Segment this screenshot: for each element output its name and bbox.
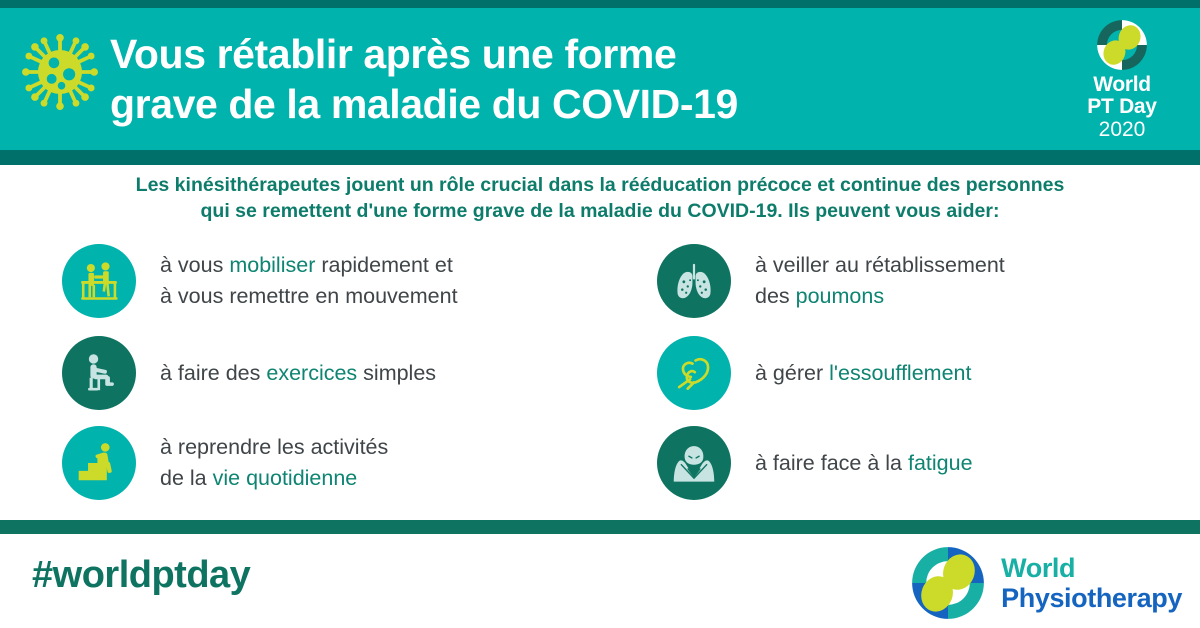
infographic-poster: Vous rétablir après une forme grave de l… [0, 0, 1200, 628]
highlight-segment: exercices [266, 361, 357, 385]
text-segment: rapidement et [315, 253, 452, 277]
page-title-line-1: Vous rétablir après une forme [110, 31, 676, 77]
seated-exercise-icon [62, 336, 136, 410]
text-segment: à vous remettre en mouvement [160, 284, 458, 308]
wordmark-line-2: Physiotherapy [1001, 585, 1182, 612]
parallel-bars-walking-icon [62, 244, 136, 318]
text-segment: à faire des [160, 361, 266, 385]
stairs-climbing-icon [62, 426, 136, 500]
world-pt-day-emblem-icon [1095, 18, 1149, 72]
benefits-list: à vous mobiliser rapidement et à vous re… [0, 240, 1200, 512]
text-segment: à gérer [755, 361, 829, 385]
breathlessness-icon [657, 336, 731, 410]
world-physiotherapy-wordmark: World Physiotherapy [1001, 555, 1182, 612]
page-title-line-2: grave de la maladie du COVID-19 [110, 79, 1000, 129]
page-title: Vous rétablir après une forme grave de l… [110, 29, 1000, 129]
highlight-segment: mobiliser [229, 253, 315, 277]
world-pt-day-logo: World PT Day 2020 [1062, 16, 1182, 148]
footer-divider-band [0, 520, 1200, 534]
text-segment: de la [160, 466, 213, 490]
world-pt-day-year: 2020 [1099, 118, 1146, 141]
world-physiotherapy-logo: World Physiotherapy [909, 544, 1182, 622]
highlight-segment: l'essoufflement [829, 361, 971, 385]
list-item: à vous mobiliser rapidement et à vous re… [62, 244, 458, 318]
world-pt-day-line-1: World [1093, 73, 1151, 96]
wordmark-line-1: World [1001, 555, 1182, 582]
top-accent-strip [0, 0, 1200, 8]
text-segment: simples [357, 361, 436, 385]
list-item-line-1: à reprendre les activités [160, 432, 388, 463]
highlight-segment: vie quotidienne [213, 466, 358, 490]
lungs-icon [657, 244, 731, 318]
text-segment: des [755, 284, 796, 308]
highlight-segment: fatigue [908, 451, 973, 475]
list-item-line-1: à faire face à la fatigue [755, 448, 973, 479]
highlight-segment: poumons [796, 284, 884, 308]
list-item-text: à faire face à la fatigue [755, 448, 973, 479]
coronavirus-icon [22, 34, 98, 110]
list-item-line-2: des poumons [755, 281, 1005, 312]
list-item-text: à reprendre les activités de la vie quot… [160, 432, 388, 494]
fatigue-person-icon [657, 426, 731, 500]
list-item: à reprendre les activités de la vie quot… [62, 426, 388, 500]
hashtag: #worldptday [32, 554, 250, 597]
list-item: à faire des exercices simples [62, 336, 436, 410]
header-banner: Vous rétablir après une forme grave de l… [0, 8, 1200, 150]
list-item-text: à faire des exercices simples [160, 358, 436, 389]
header-bottom-band [0, 150, 1200, 165]
footer: #worldptday World Physiotherapy [0, 534, 1200, 628]
world-pt-day-logo-text: World PT Day [1087, 74, 1156, 118]
world-pt-day-line-2: PT Day [1087, 95, 1156, 118]
list-item-text: à gérer l'essoufflement [755, 358, 971, 389]
intro-paragraph: Les kinésithérapeutes jouent un rôle cru… [0, 172, 1200, 224]
list-item-line-1: à vous mobiliser rapidement et [160, 250, 458, 281]
intro-line-2: qui se remettent d'une forme grave de la… [28, 198, 1172, 224]
list-item-line-1: à veiller au rétablissement [755, 250, 1005, 281]
list-item-text: à veiller au rétablissement des poumons [755, 250, 1005, 312]
text-segment: à faire face à la [755, 451, 908, 475]
text-segment: à reprendre les activités [160, 435, 388, 459]
list-item: à faire face à la fatigue [657, 426, 973, 500]
text-segment: à vous [160, 253, 229, 277]
list-item-line-1: à gérer l'essoufflement [755, 358, 971, 389]
list-item-line-1: à faire des exercices simples [160, 358, 436, 389]
list-item-line-2: à vous remettre en mouvement [160, 281, 458, 312]
list-item: à veiller au rétablissement des poumons [657, 244, 1005, 318]
list-item-text: à vous mobiliser rapidement et à vous re… [160, 250, 458, 312]
intro-line-1: Les kinésithérapeutes jouent un rôle cru… [136, 174, 1065, 196]
text-segment: à veiller au rétablissement [755, 253, 1005, 277]
list-item-line-2: de la vie quotidienne [160, 463, 388, 494]
list-item: à gérer l'essoufflement [657, 336, 971, 410]
world-physiotherapy-emblem-icon [909, 544, 987, 622]
